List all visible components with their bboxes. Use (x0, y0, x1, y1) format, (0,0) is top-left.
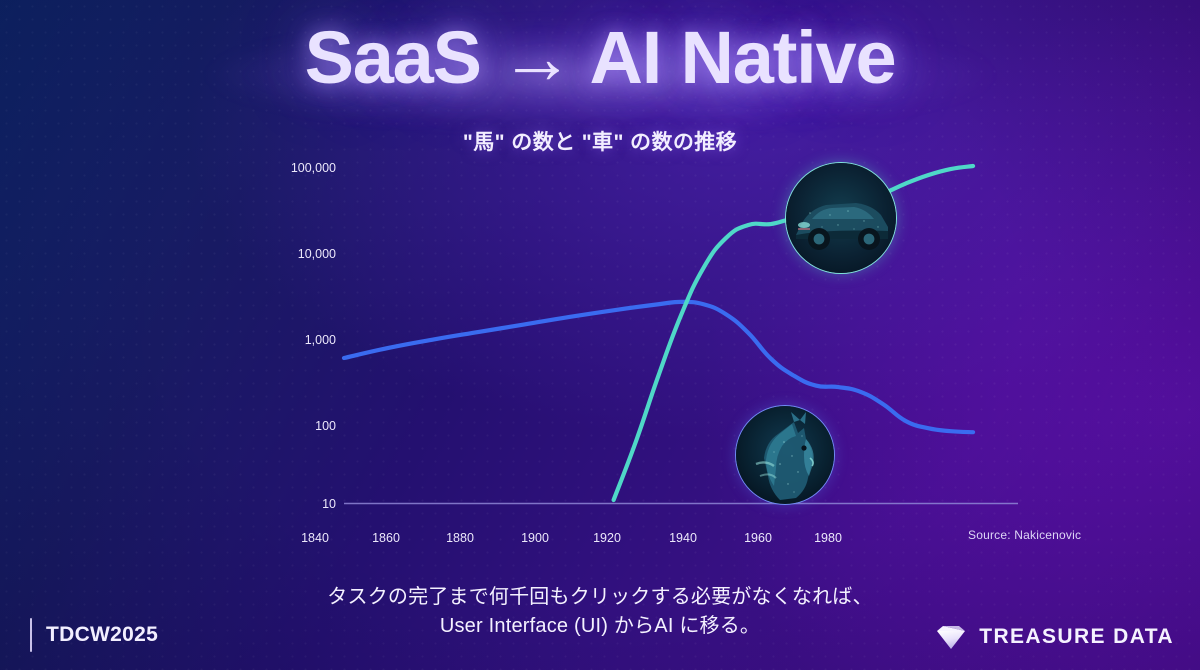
brand-name: TREASURE DATA (979, 625, 1174, 649)
diamond-icon (936, 624, 966, 650)
title-block: SaaS → AI Native (0, 18, 1200, 98)
horse-photo (735, 405, 835, 505)
source-attribution: Source: Nakicenovic (968, 528, 1081, 542)
slide-root: SaaS → AI Native "馬" の数と "車" の数の推移 100,0… (0, 0, 1200, 670)
x-tick-label: 1940 (669, 531, 697, 545)
y-tick-label: 10 (322, 497, 336, 511)
horse-illustration (736, 406, 834, 504)
chart-svg: 100,000 10,000 1,000 100 10 1840 1860 18… (270, 152, 1030, 552)
series-line-horses (344, 302, 973, 432)
event-tag: TDCW2025 (46, 623, 158, 647)
y-tick-label: 1,000 (305, 333, 336, 347)
footer-left: TDCW2025 (30, 618, 158, 652)
y-axis-tick-labels: 100,000 10,000 1,000 100 10 (291, 161, 336, 511)
x-axis-tick-labels: 1840 1860 1880 1900 1920 1940 1960 1980 (301, 531, 842, 545)
x-tick-label: 1900 (521, 531, 549, 545)
footer-right: TREASURE DATA (936, 624, 1174, 650)
y-tick-label: 100,000 (291, 161, 336, 175)
footer-divider (30, 618, 32, 652)
page-title: SaaS → AI Native (0, 18, 1200, 98)
x-tick-label: 1980 (814, 531, 842, 545)
x-tick-label: 1840 (301, 531, 329, 545)
y-tick-label: 100 (315, 419, 336, 433)
x-tick-label: 1880 (446, 531, 474, 545)
line-chart: 100,000 10,000 1,000 100 10 1840 1860 18… (270, 152, 1030, 552)
x-tick-label: 1860 (372, 531, 400, 545)
car-photo (785, 162, 897, 274)
x-tick-label: 1920 (593, 531, 621, 545)
x-tick-label: 1960 (744, 531, 772, 545)
y-tick-label: 10,000 (298, 247, 336, 261)
caption-line-1: タスクの完了まで何千回もクリックする必要がなくなれば、 (0, 583, 1200, 612)
car-illustration (786, 163, 896, 273)
